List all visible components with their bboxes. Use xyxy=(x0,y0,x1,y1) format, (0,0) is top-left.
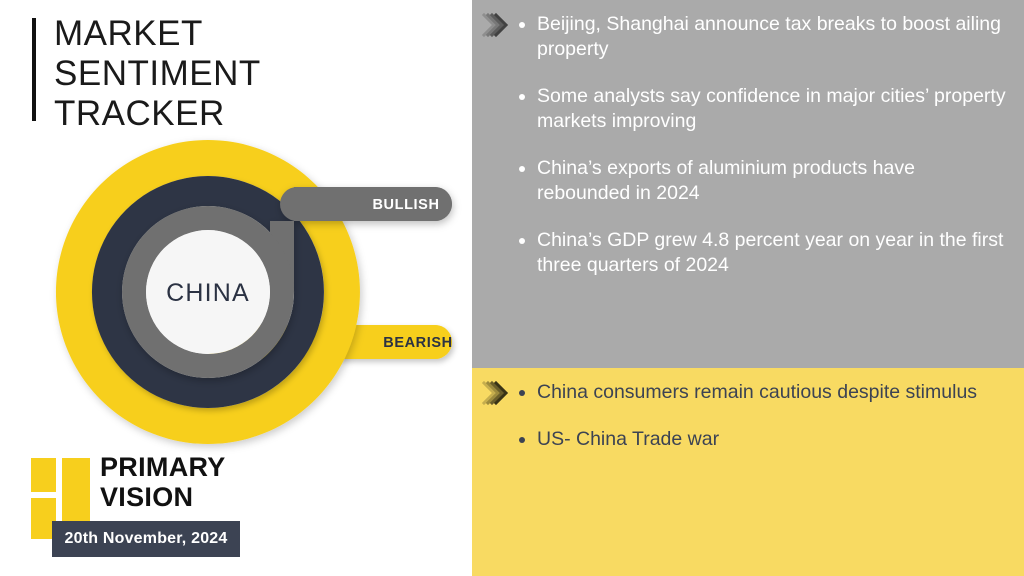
sentiment-ring-chart: CHINA BULLISH BEARISH xyxy=(30,125,472,465)
logo-square-right xyxy=(62,458,90,521)
bearish-pill-label: BEARISH xyxy=(383,335,452,351)
double-chevron-right-icon xyxy=(480,10,514,40)
title-accent-bar xyxy=(32,18,36,121)
bullish-news-panel: Beijing, Shanghai announce tax breaks to… xyxy=(472,0,1024,368)
ring-chart-svg: CHINA BULLISH BEARISH xyxy=(30,125,472,465)
slide-root: MARKET SENTIMENT TRACKER xyxy=(0,0,1024,576)
bullish-bullet-list: Beijing, Shanghai announce tax breaks to… xyxy=(517,12,1009,300)
page-title: MARKET SENTIMENT TRACKER xyxy=(32,14,261,134)
bearish-bullet-list: China consumers remain cautious despite … xyxy=(517,380,1009,474)
left-panel: MARKET SENTIMENT TRACKER xyxy=(0,0,472,576)
title-text: MARKET SENTIMENT TRACKER xyxy=(54,14,261,134)
double-chevron-right-icon xyxy=(480,378,514,408)
chart-center-label: CHINA xyxy=(166,279,250,307)
date-text: 20th November, 2024 xyxy=(65,530,228,548)
list-item: US- China Trade war xyxy=(517,427,1009,452)
logo-wordmark: PRIMARY VISION xyxy=(100,452,226,512)
list-item: Beijing, Shanghai announce tax breaks to… xyxy=(517,12,1009,62)
date-badge: 20th November, 2024 xyxy=(52,521,240,557)
primary-vision-logo: PRIMARY VISION 20th November, 2024 xyxy=(30,452,290,564)
list-item: China’s exports of aluminium products ha… xyxy=(517,156,1009,206)
bearish-news-panel: China consumers remain cautious despite … xyxy=(472,368,1024,576)
list-item: China’s GDP grew 4.8 percent year on yea… xyxy=(517,228,1009,278)
bullish-pill-label: BULLISH xyxy=(372,197,439,213)
right-panel: Beijing, Shanghai announce tax breaks to… xyxy=(472,0,1024,576)
list-item: Some analysts say confidence in major ci… xyxy=(517,84,1009,134)
list-item: China consumers remain cautious despite … xyxy=(517,380,1009,405)
logo-square-top-left xyxy=(31,458,56,492)
